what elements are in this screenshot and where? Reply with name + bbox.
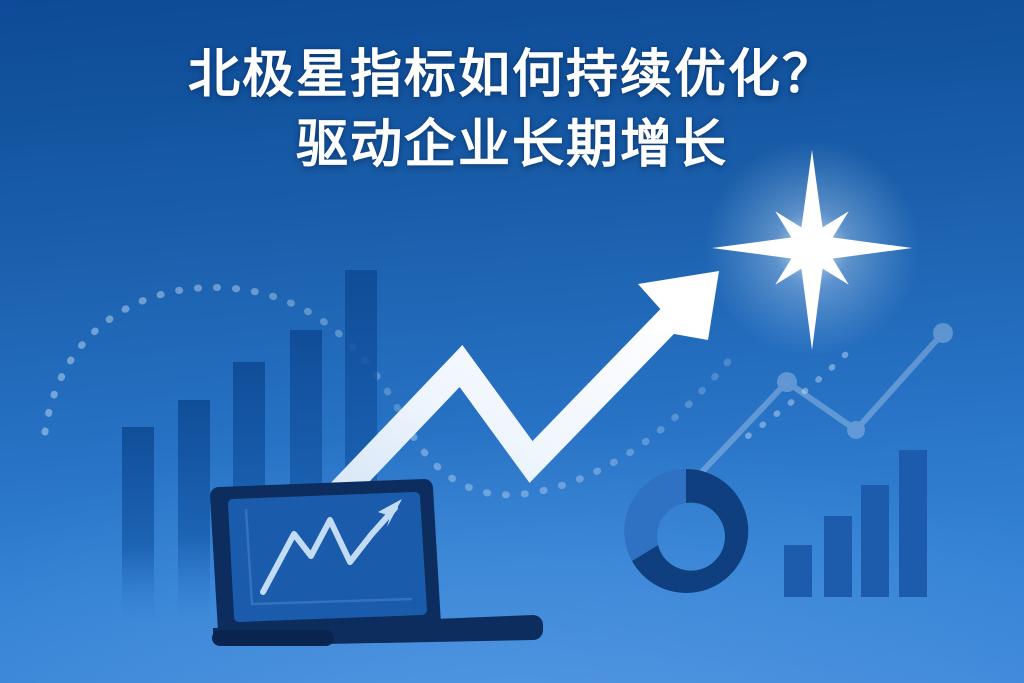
north-star (0, 0, 1024, 683)
poster-canvas: 北极星指标如何持续优化？ 驱动企业长期增长 (0, 0, 1024, 683)
north-star-core (797, 233, 827, 263)
